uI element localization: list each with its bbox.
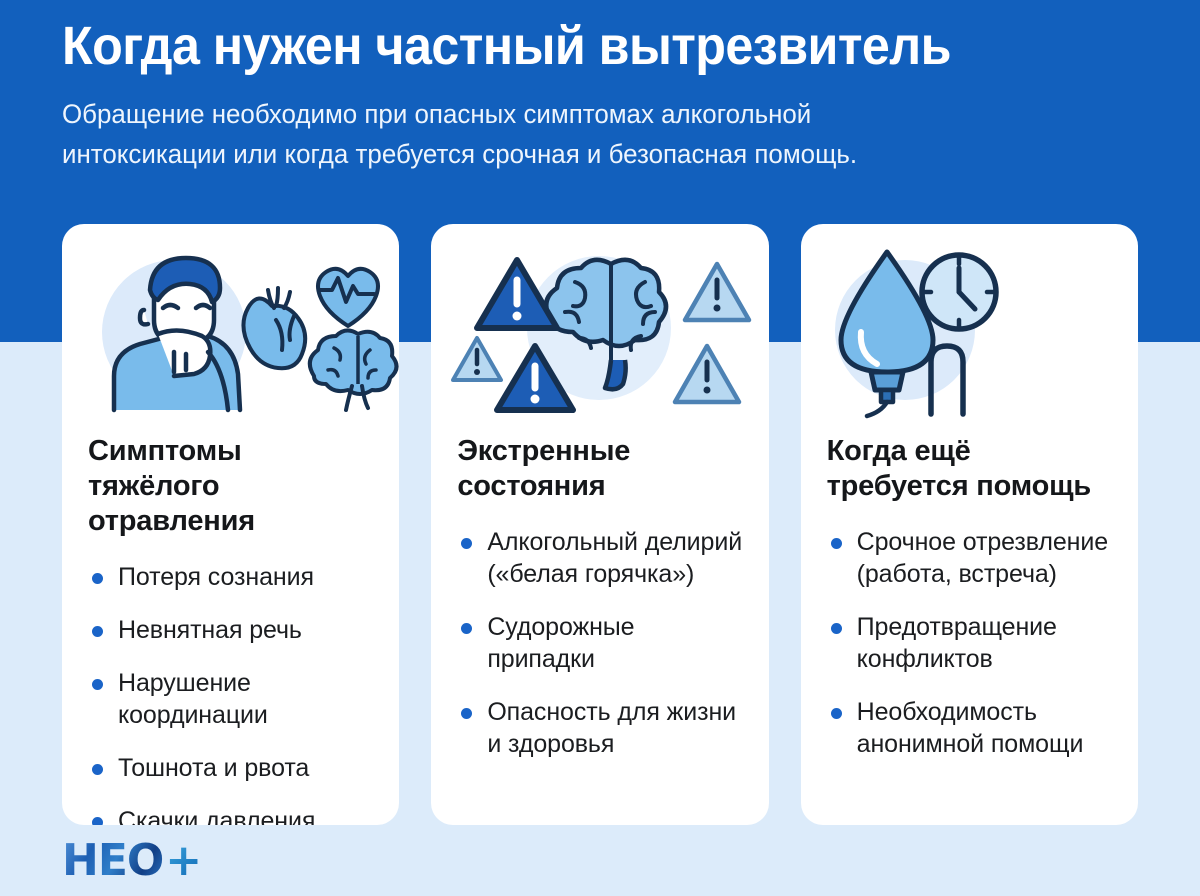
list-item: Скачки давления, боли в сердце	[88, 805, 373, 825]
list-item-label: Нарушение координации	[118, 669, 268, 729]
list-item: Нарушение координации	[88, 667, 373, 731]
list-item-label: Скачки давления, боли в сердце	[118, 807, 322, 825]
list-item: Необходимость анонимной помощи	[827, 696, 1112, 760]
card-heading: Симптомы тяжёлого отравления	[88, 434, 373, 539]
bullet-dot-icon	[92, 626, 103, 637]
list-item: Опасность для жизни и здоровья	[457, 696, 742, 760]
bullet-dot-icon	[461, 623, 472, 634]
card-body: Симптомы тяжёлого отравления Потеря созн…	[62, 420, 399, 825]
brand-logo-plus-icon: +	[165, 838, 202, 884]
list-item: Срочное отрезвление (работа, встреча)	[827, 526, 1112, 590]
card-heading: Когда ещё требуется помощь	[827, 434, 1112, 504]
cards-row: Симптомы тяжёлого отравления Потеря созн…	[62, 224, 1138, 825]
list-item: Тошнота и рвота	[88, 752, 373, 784]
warning-triangle-icon	[685, 264, 749, 320]
brain-warning-triangles-illustration	[431, 224, 768, 420]
heartbeat-pulse-icon	[318, 269, 378, 326]
bullet-dot-icon	[92, 573, 103, 584]
header: Когда нужен частный вытрезвитель Обращен…	[62, 14, 1142, 174]
card-bullet-list: Срочное отрезвление (работа, встреча) Пр…	[827, 526, 1112, 760]
heart-anatomy-icon	[243, 288, 305, 368]
bullet-dot-icon	[92, 764, 103, 775]
card-bullet-list: Потеря сознания Невнятная речь Нарушение…	[88, 561, 373, 825]
brain-icon	[310, 330, 397, 410]
page-title: Когда нужен частный вытрезвитель	[62, 14, 1066, 78]
bullet-dot-icon	[461, 708, 472, 719]
bullet-dot-icon	[831, 708, 842, 719]
page-subtitle-line-2: интоксикации или когда требуется срочная…	[62, 134, 1099, 174]
list-item: Судорожные припадки	[457, 611, 742, 675]
card-severe-poisoning: Симптомы тяжёлого отравления Потеря созн…	[62, 224, 399, 825]
clock-icon	[922, 255, 996, 329]
list-item: Предотвращение конфликтов	[827, 611, 1112, 675]
list-item-label: Опасность для жизни и здоровья	[487, 698, 736, 758]
card-bullet-list: Алкогольный делирий («белая горячка») Су…	[457, 526, 742, 760]
bullet-dot-icon	[92, 817, 103, 825]
page-subtitle: Обращение необходимо при опасных симптом…	[62, 94, 1099, 174]
brand-logo-text: НЕО	[62, 838, 163, 884]
page-subtitle-line-1: Обращение необходимо при опасных симптом…	[62, 94, 1099, 134]
bullet-dot-icon	[92, 679, 103, 690]
card-other-help-needed: Когда ещё требуется помощь Срочное отрез…	[801, 224, 1138, 825]
list-item-label: Тошнота и рвота	[118, 754, 309, 782]
list-item: Алкогольный делирий («белая горячка»)	[457, 526, 742, 590]
card-emergency-states: Экстренные состояния Алкогольный делирий…	[431, 224, 768, 825]
card-body: Когда ещё требуется помощь Срочное отрез…	[801, 420, 1138, 781]
sick-man-heart-brain-illustration	[62, 224, 399, 420]
bullet-dot-icon	[831, 538, 842, 549]
list-item-label: Срочное отрезвление (работа, встреча)	[857, 528, 1108, 588]
list-item: Потеря сознания	[88, 561, 373, 593]
warning-triangle-icon	[675, 346, 739, 402]
brand-logo: НЕО +	[62, 838, 202, 884]
list-item-label: Необходимость анонимной помощи	[857, 698, 1084, 758]
bullet-dot-icon	[461, 538, 472, 549]
list-item-label: Судорожные припадки	[487, 613, 634, 673]
card-heading: Экстренные состояния	[457, 434, 742, 504]
bullet-dot-icon	[831, 623, 842, 634]
list-item-label: Предотвращение конфликтов	[857, 613, 1057, 673]
list-item: Невнятная речь	[88, 614, 373, 646]
list-item-label: Алкогольный делирий («белая горячка»)	[487, 528, 742, 588]
list-item-label: Невнятная речь	[118, 616, 302, 644]
list-item-label: Потеря сознания	[118, 563, 314, 591]
iv-drip-clock-illustration	[801, 224, 1138, 420]
card-body: Экстренные состояния Алкогольный делирий…	[431, 420, 768, 781]
warning-triangle-icon	[453, 338, 501, 380]
